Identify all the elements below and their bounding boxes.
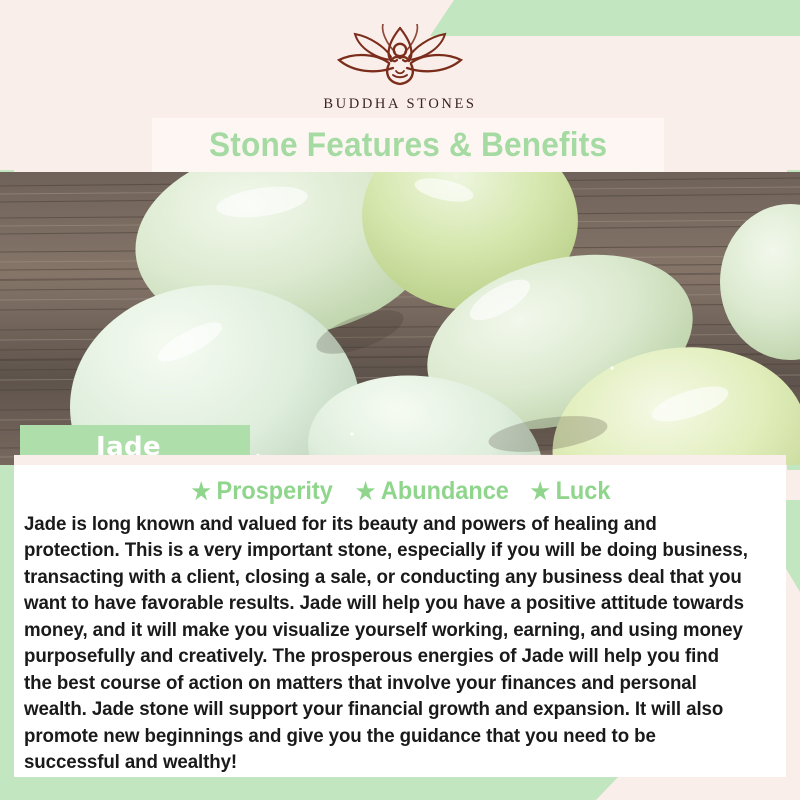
page-title: Stone Features & Benefits (209, 126, 607, 165)
stone-photo (0, 172, 800, 465)
benefit-item-luck: ★ Luck (531, 477, 611, 506)
benefit-item-abundance: ★ Abundance (356, 477, 509, 506)
stone-photo-illustration (0, 172, 800, 465)
star-icon: ★ (531, 480, 550, 503)
benefit-label: Luck (556, 477, 611, 506)
star-icon: ★ (356, 480, 375, 503)
content-panel: ★ Prosperity ★ Abundance ★ Luck Jade is … (14, 465, 786, 777)
benefit-label: Prosperity (217, 477, 333, 506)
brand-logo: BUDDHA STONES (0, 24, 800, 113)
benefits-row: ★ Prosperity ★ Abundance ★ Luck (20, 473, 780, 509)
benefit-item-prosperity: ★ Prosperity (191, 477, 332, 506)
lotus-meditation-icon (331, 24, 469, 90)
stone-info-card: BUDDHA STONES Stone Features & Benefits (0, 0, 800, 800)
title-banner: Stone Features & Benefits (152, 118, 664, 172)
star-icon: ★ (191, 480, 210, 503)
brand-name: BUDDHA STONES (323, 96, 476, 113)
decorative-band-bottom (0, 775, 620, 800)
stone-description: Jade is long known and valued for its be… (24, 511, 750, 776)
benefit-label: Abundance (381, 477, 509, 506)
